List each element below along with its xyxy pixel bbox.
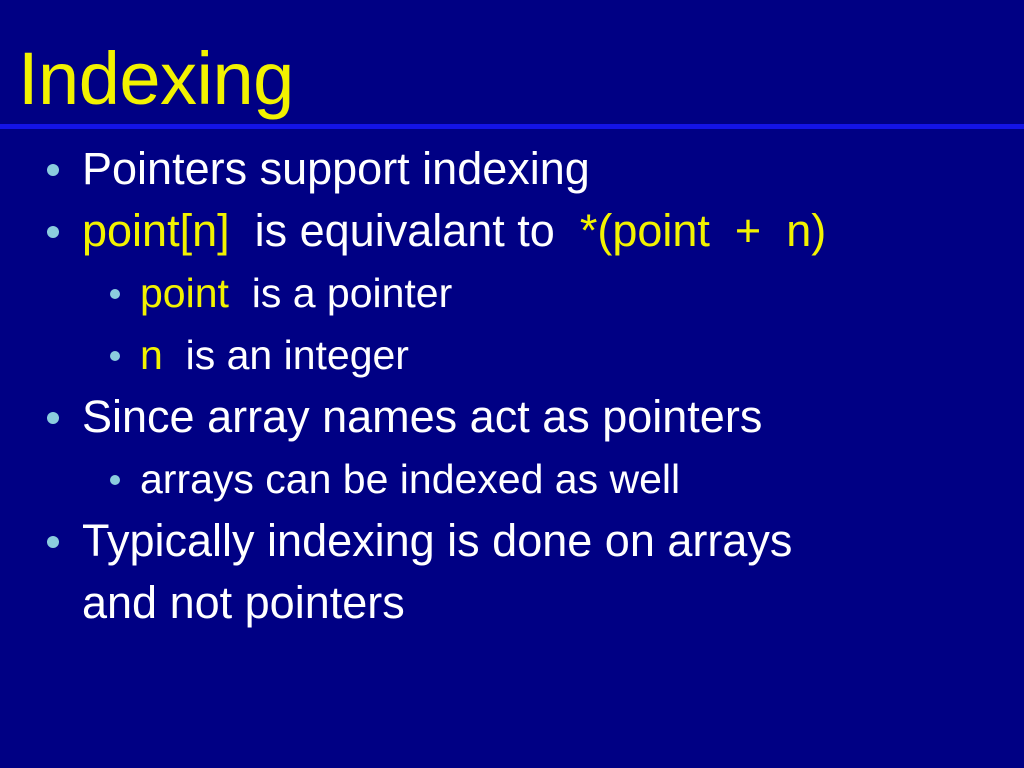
- bullet-text-segment: Since array names act as pointers: [82, 391, 762, 442]
- bullet-item: n is an integer: [0, 324, 1024, 386]
- bullet-text-segment: point[n]: [82, 205, 230, 256]
- slide-canvas: Indexing Pointers support indexingpoint[…: [0, 0, 1024, 768]
- slide-title-block: Indexing: [0, 0, 1024, 128]
- bullet-dot-icon: [110, 351, 120, 361]
- bullet-dot-icon: [110, 289, 120, 299]
- bullet-text-segment: arrays can be indexed as well: [140, 456, 680, 502]
- bullet-item: Pointers support indexing: [0, 138, 1024, 200]
- bullet-item: Since array names act as pointers: [0, 386, 1024, 448]
- bullet-text: Typically indexing is done on arraysand …: [82, 510, 1024, 634]
- bullet-text-segment: n: [140, 332, 163, 378]
- slide-body-bullet-list: Pointers support indexingpoint[n] is equ…: [0, 138, 1024, 634]
- bullet-text-segment: is equivalant to: [230, 205, 580, 256]
- bullet-text-segment: is an integer: [163, 332, 409, 378]
- bullet-dot-icon: [47, 412, 59, 424]
- page-title: Indexing: [18, 38, 294, 120]
- bullet-item: Typically indexing is done on arraysand …: [0, 510, 1024, 634]
- bullet-item: point[n] is equivalant to *(point + n): [0, 200, 1024, 262]
- bullet-item: arrays can be indexed as well: [0, 448, 1024, 510]
- bullet-dot-icon: [47, 164, 59, 176]
- bullet-text-segment: Pointers support indexing: [82, 143, 590, 194]
- bullet-text-segment: point: [140, 270, 229, 316]
- bullet-dot-icon: [110, 475, 120, 485]
- bullet-text-segment: Typically indexing is done on arrays: [82, 515, 792, 566]
- bullet-text: Pointers support indexing: [82, 138, 1024, 200]
- bullet-text: point[n] is equivalant to *(point + n): [82, 200, 1024, 262]
- bullet-dot-icon: [47, 226, 59, 238]
- bullet-text: n is an integer: [140, 324, 1024, 386]
- bullet-text-wrap-line: and not pointers: [82, 572, 1024, 634]
- bullet-text-segment: *(point + n): [580, 205, 826, 256]
- bullet-dot-icon: [47, 536, 59, 548]
- bullet-item: point is a pointer: [0, 262, 1024, 324]
- bullet-text-segment: is a pointer: [229, 270, 452, 316]
- bullet-text: point is a pointer: [140, 262, 1024, 324]
- bullet-text: Since array names act as pointers: [82, 386, 1024, 448]
- title-divider-rule: [0, 124, 1024, 129]
- bullet-text: arrays can be indexed as well: [140, 448, 1024, 510]
